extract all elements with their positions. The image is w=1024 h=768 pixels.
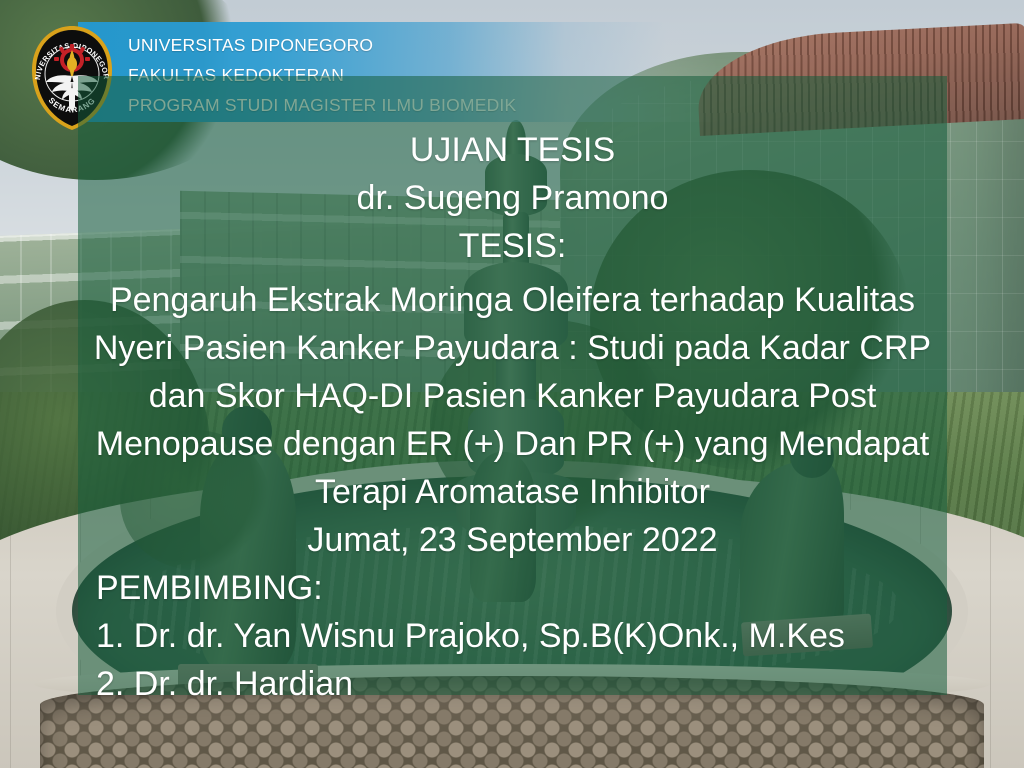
advisor-item: 1. Dr. dr. Yan Wisnu Prajoko, Sp.B(K)Onk…	[78, 614, 947, 659]
institution-line-university: UNIVERSITAS DIPONEGORO	[128, 30, 688, 60]
thesis-title-line: Pengaruh Ekstrak Moringa Oleifera terhad…	[78, 278, 947, 323]
thesis-title-line: Terapi Aromatase Inhibitor	[78, 470, 947, 515]
thesis-title-line: Menopause dengan ER (+) Dan PR (+) yang …	[78, 422, 947, 467]
advisor-label: PEMBIMBING:	[78, 566, 947, 611]
advisor-item: 2. Dr. dr. Hardian	[78, 662, 947, 707]
thesis-label: TESIS:	[78, 224, 947, 269]
presenter-name: dr. Sugeng Pramono	[78, 176, 947, 221]
slide-content: UJIAN TESIS dr. Sugeng Pramono TESIS: Pe…	[78, 76, 947, 695]
thesis-title-line: Nyeri Pasien Kanker Payudara : Studi pad…	[78, 326, 947, 371]
exam-date: Jumat, 23 September 2022	[78, 518, 947, 563]
event-title: UJIAN TESIS	[78, 128, 947, 173]
presentation-slide: UNIVERSITAS DIPONEGORO FAKULTAS KEDOKTER…	[0, 0, 1024, 768]
thesis-title-line: dan Skor HAQ-DI Pasien Kanker Payudara P…	[78, 374, 947, 419]
